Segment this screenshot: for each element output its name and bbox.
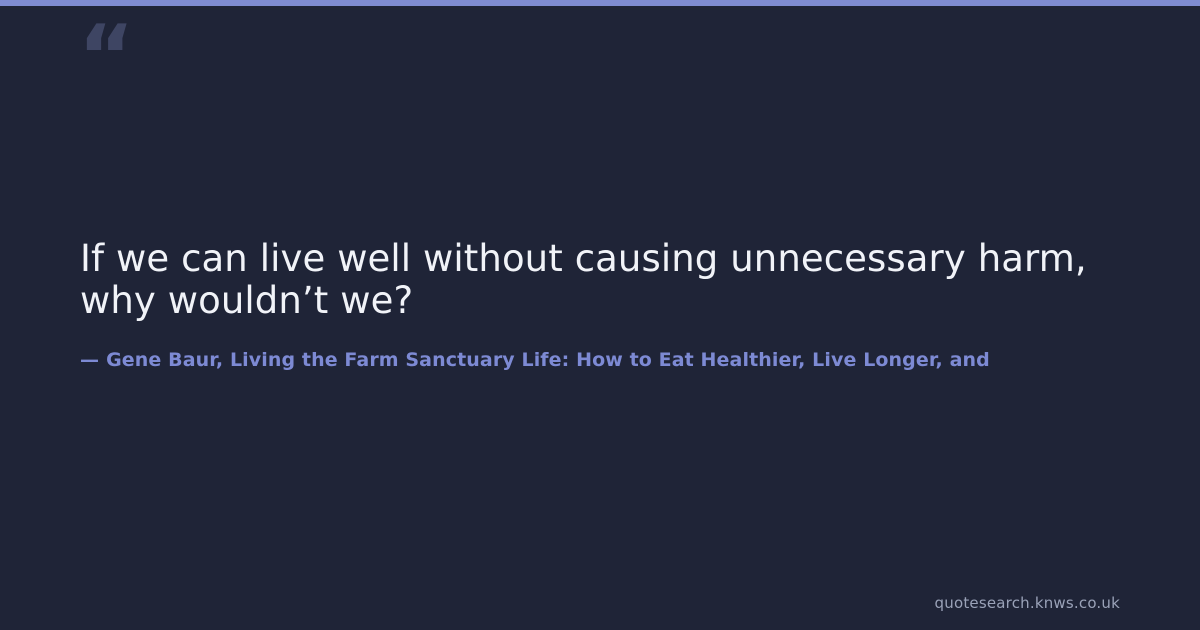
source-url: quotesearch.knws.co.uk — [935, 594, 1120, 612]
attribution-text: —Gene Baur, Living the Farm Sanctuary Li… — [80, 347, 990, 373]
quote-text: If we can live well without causing unne… — [80, 238, 1140, 322]
quote-body: If we can live well without causing unne… — [80, 238, 1140, 322]
em-dash: — — [80, 349, 99, 371]
open-quote-icon: “ — [78, 14, 133, 100]
attribution-source: Gene Baur, Living the Farm Sanctuary Lif… — [106, 349, 990, 371]
footer: quotesearch.knws.co.uk — [935, 593, 1120, 612]
attribution: —Gene Baur, Living the Farm Sanctuary Li… — [80, 347, 1200, 373]
quote-card: “ If we can live well without causing un… — [0, 6, 1200, 630]
